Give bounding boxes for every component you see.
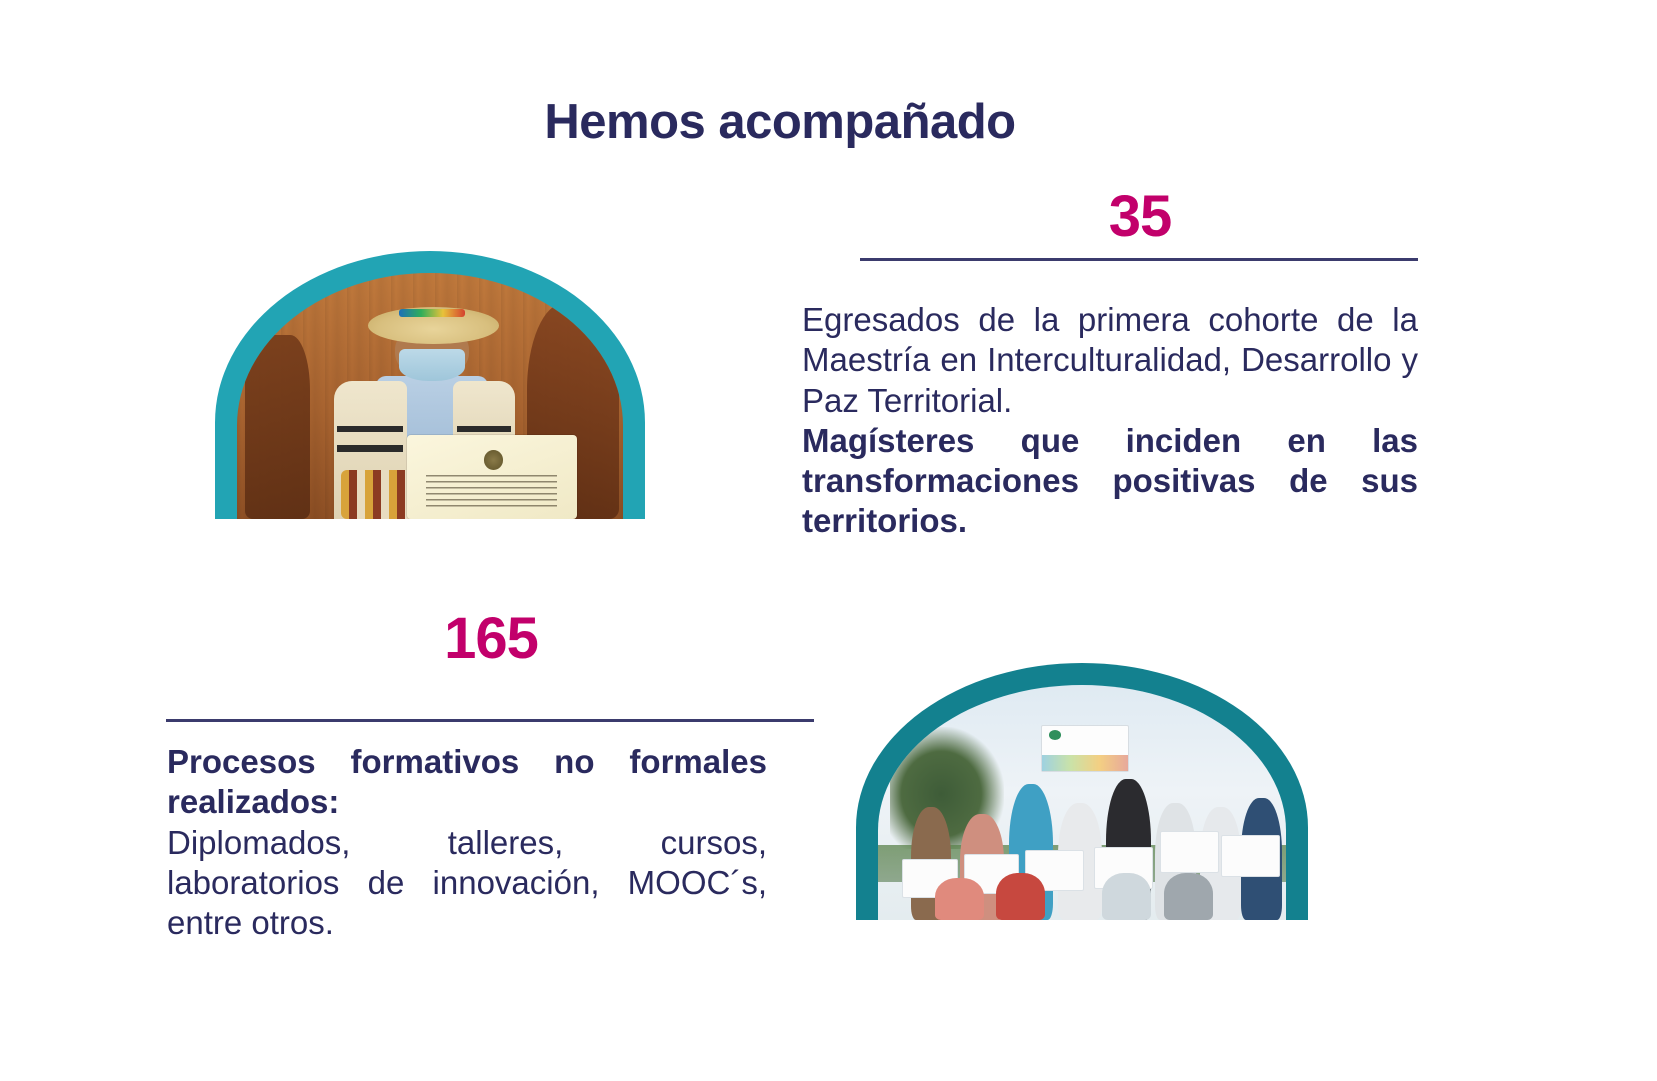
person — [1164, 873, 1213, 920]
diploma-seal-icon — [484, 450, 503, 470]
stat-35-regular-text: Egresados de la primera cohorte de la Ma… — [802, 300, 1418, 421]
person — [935, 878, 984, 920]
stat-165-bold-text: Procesos formativos no formales realizad… — [167, 742, 767, 823]
certificate — [1160, 831, 1219, 873]
stat-number-35: 35 — [860, 188, 1420, 246]
diploma-text-lines — [426, 475, 557, 507]
person — [996, 873, 1045, 920]
raised-certificate — [1041, 725, 1129, 772]
stat-description-35: Egresados de la primera cohorte de la Ma… — [802, 300, 1418, 542]
stat-number-165: 165 — [168, 610, 814, 668]
certificate-seal-icon — [1049, 730, 1061, 740]
photo-graduate-image — [237, 273, 623, 519]
slide-canvas: Hemos acompañado — [0, 0, 1657, 1081]
photo-group — [856, 663, 1308, 920]
wood-carving-left-icon — [245, 335, 311, 520]
hat-band — [399, 309, 465, 317]
group-scene — [878, 685, 1286, 920]
certificate-footer-band — [1042, 755, 1128, 770]
person — [1102, 873, 1151, 920]
poncho-stripe — [337, 426, 403, 432]
poncho-stripe — [337, 445, 403, 451]
stat-35-bold-text: Magísteres que inciden en las transforma… — [802, 421, 1418, 542]
graduate-scene — [237, 273, 623, 519]
certificate — [1221, 835, 1280, 877]
page-title: Hemos acompañado — [0, 96, 1560, 150]
photo-group-image — [878, 685, 1286, 920]
face-mask-icon — [399, 349, 465, 381]
poncho-stripe — [457, 426, 511, 432]
stat-description-165: Procesos formativos no formales realizad… — [167, 742, 767, 943]
photo-graduate — [215, 251, 645, 519]
stat-divider-35 — [860, 258, 1418, 261]
stat-divider-165 — [166, 719, 814, 722]
stat-165-regular-text: Diplomados, talleres, cursos, laboratori… — [167, 823, 767, 944]
